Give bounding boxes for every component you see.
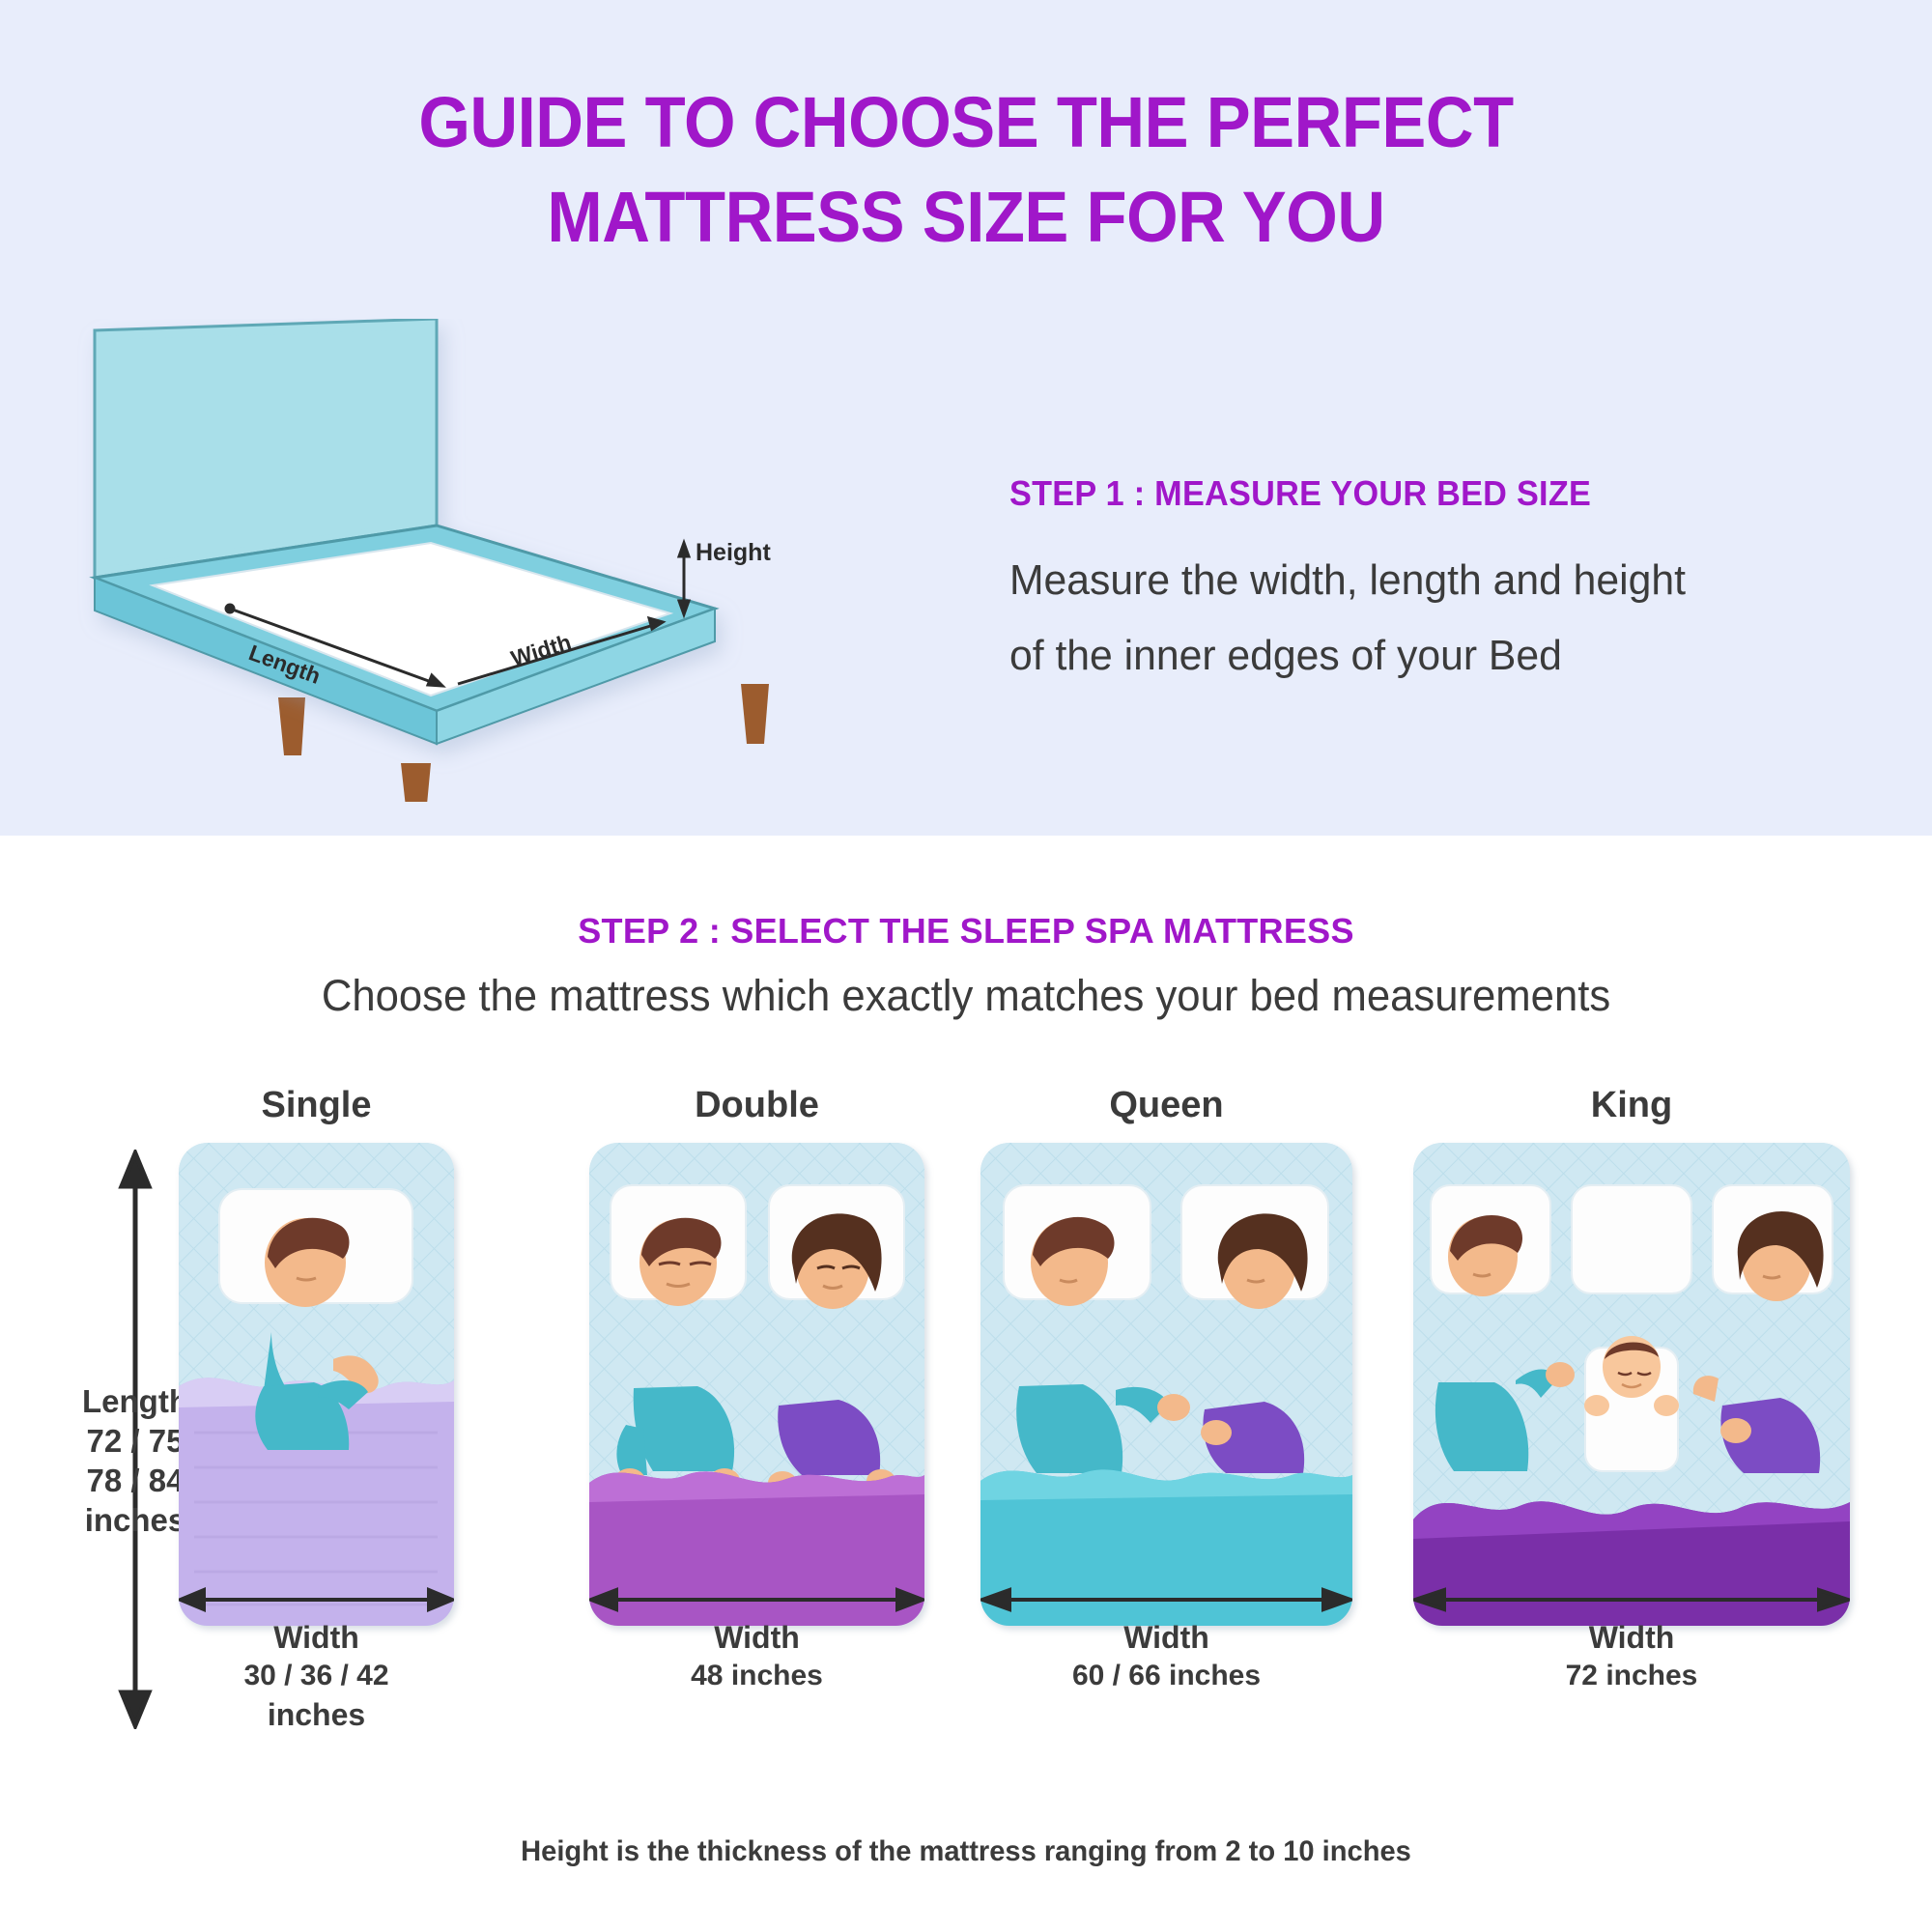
- width-label-queen: Width: [961, 1618, 1372, 1657]
- width-values-double: 48 inches: [570, 1657, 944, 1695]
- mattress-title-queen: Queen: [980, 1085, 1352, 1143]
- baby-figure: [1584, 1336, 1679, 1471]
- step1-block: STEP 1 : MEASURE YOUR BED SIZE Measure t…: [1009, 473, 1879, 694]
- width-caption-queen: Width 60 / 66 inches: [961, 1618, 1372, 1695]
- page-title-line2: MATTRESS SIZE FOR YOU: [68, 170, 1864, 265]
- top-panel: GUIDE TO CHOOSE THE PERFECT MATTRESS SIZ…: [0, 0, 1932, 836]
- mattress-illustration-double: [589, 1143, 924, 1626]
- width-arrow-queen: [980, 1583, 1352, 1616]
- mattress-card-king[interactable]: King: [1413, 1085, 1850, 1626]
- mattress-title-king: King: [1413, 1085, 1850, 1143]
- page-title-line1: GUIDE TO CHOOSE THE PERFECT: [68, 75, 1864, 170]
- step1-body-line2: of the inner edges of your Bed: [1009, 618, 1853, 694]
- width-values-king: 72 inches: [1394, 1657, 1869, 1695]
- step1-heading: STEP 1 : MEASURE YOUR BED SIZE: [1009, 473, 1835, 514]
- width-arrow-single: [179, 1583, 454, 1616]
- mattress-illustration-queen: [980, 1143, 1352, 1626]
- step1-body-line1: Measure the width, length and height: [1009, 543, 1853, 618]
- mattress-illustration-king: [1413, 1143, 1850, 1626]
- mattress-cards: Single: [179, 1085, 1893, 1819]
- mattress-illustration-single: [179, 1143, 454, 1626]
- width-caption-double: Width 48 inches: [570, 1618, 944, 1695]
- mattress-card-single[interactable]: Single: [179, 1085, 454, 1626]
- step1-body: Measure the width, length and height of …: [1009, 543, 1853, 694]
- width-caption-king: Width 72 inches: [1394, 1618, 1869, 1695]
- mattress-card-queen[interactable]: Queen: [980, 1085, 1352, 1626]
- width-label-single: Width: [159, 1618, 473, 1657]
- width-arrow-king: [1413, 1583, 1850, 1616]
- bed-height-label: Height: [696, 539, 771, 566]
- mattress-card-double[interactable]: Double: [589, 1085, 924, 1626]
- bottom-panel: STEP 2 : SELECT THE SLEEP SPA MATTRESS C…: [0, 836, 1932, 1932]
- footer-note: Height is the thickness of the mattress …: [29, 1835, 1903, 1868]
- width-values-queen: 60 / 66 inches: [961, 1657, 1372, 1695]
- width-values-single: 30 / 36 / 42: [159, 1657, 473, 1695]
- page-title: GUIDE TO CHOOSE THE PERFECT MATTRESS SIZ…: [68, 75, 1864, 265]
- height-arrow: [679, 543, 689, 614]
- step2-heading: STEP 2 : SELECT THE SLEEP SPA MATTRESS: [0, 911, 1932, 952]
- bed-illustration: Height Length Width: [77, 319, 908, 802]
- mattress-title-single: Single: [179, 1085, 454, 1143]
- width-arrow-double: [589, 1583, 924, 1616]
- width-label-double: Width: [570, 1618, 944, 1657]
- width-label-king: Width: [1394, 1618, 1869, 1657]
- width-unit-single: inches: [159, 1695, 473, 1734]
- step2-subtitle: Choose the mattress which exactly matche…: [29, 971, 1903, 1021]
- width-caption-single: Width 30 / 36 / 42 inches: [159, 1618, 473, 1734]
- mattress-title-double: Double: [589, 1085, 924, 1143]
